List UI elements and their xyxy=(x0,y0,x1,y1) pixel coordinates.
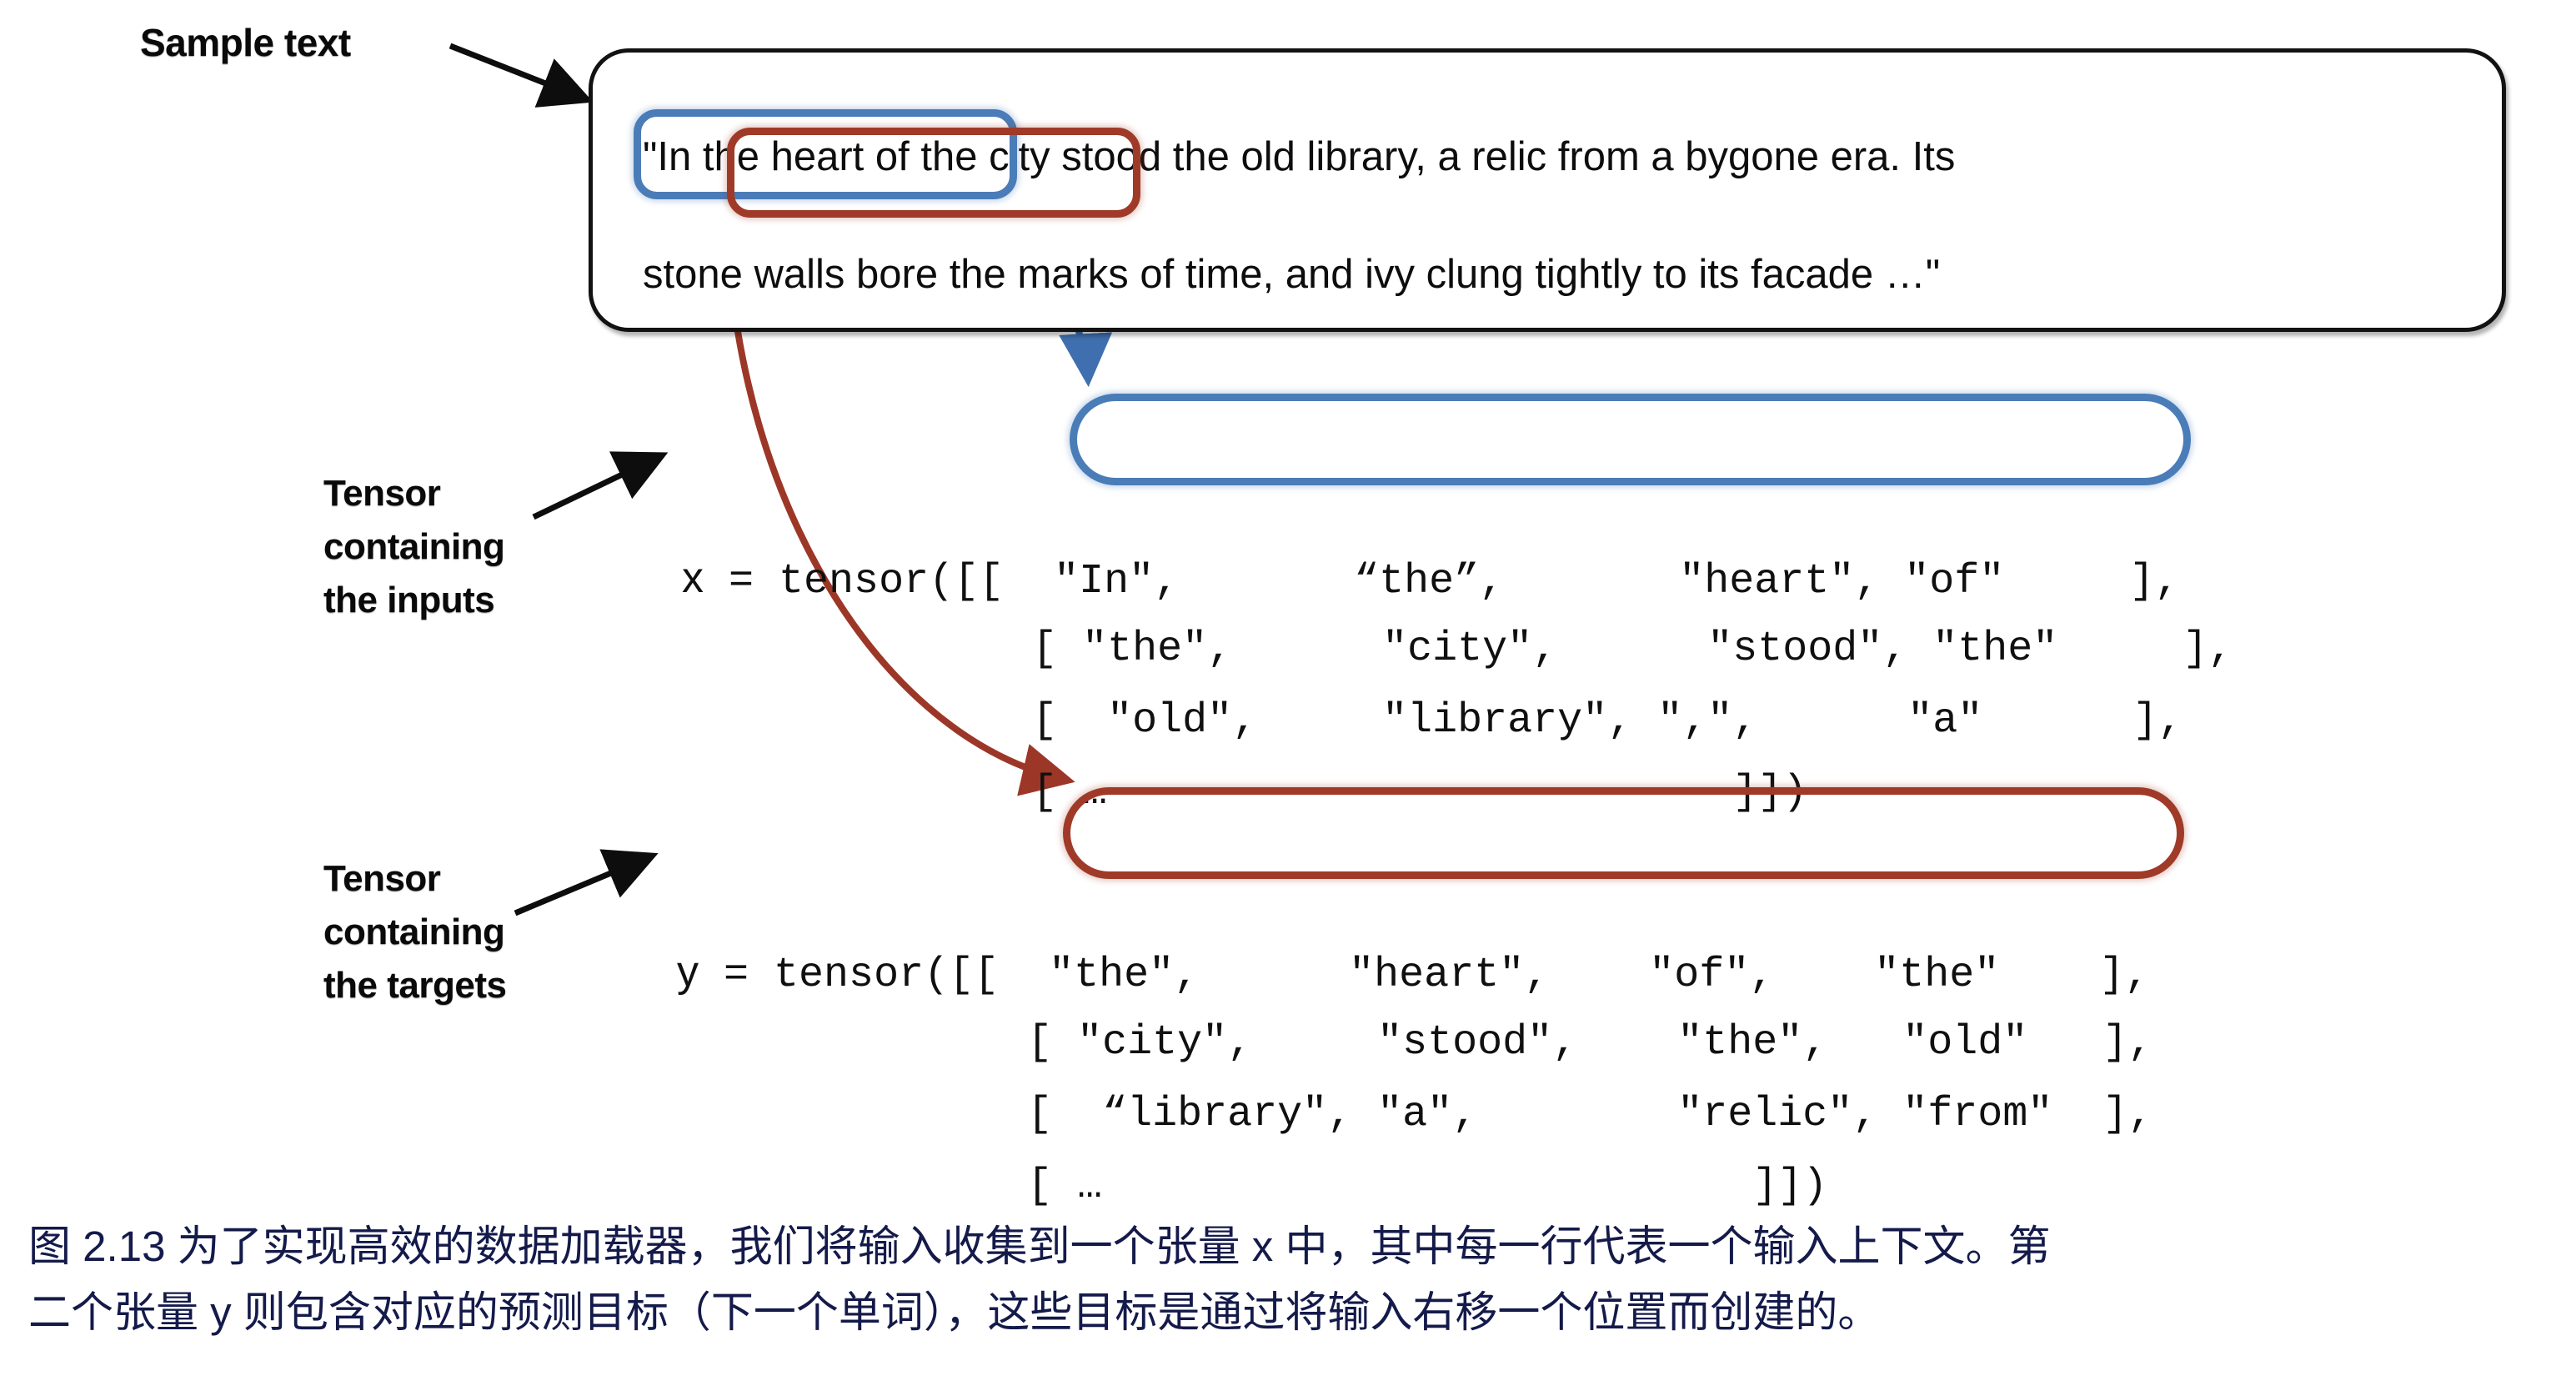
x-row-2-suffix: ], xyxy=(2132,697,2183,745)
tensor-targets-label: Tensorcontainingthe targets xyxy=(323,852,506,1012)
arrow-sample-text xyxy=(450,46,584,98)
y-row-2-suffix: ], xyxy=(2102,1091,2153,1138)
arrow-tensor-inputs xyxy=(534,457,659,517)
y-var-name: y xyxy=(677,947,699,996)
x-row-1-suffix: ], xyxy=(2183,625,2233,673)
figure-caption-line-2: 二个张量 y 则包含对应的预测目标（下一个单词），这些目标是通过将输入右移一个位… xyxy=(28,1279,2538,1345)
y-row-1-suffix: ], xyxy=(2102,1019,2153,1067)
y-row-1-cells: "city", "stood", "the", "old" xyxy=(1077,1019,2027,1067)
arrow-tensor-targets xyxy=(515,857,649,913)
y-tensor-row: [ … ]]) xyxy=(677,1151,2153,1223)
y-row-1-prefix: [ xyxy=(1027,1019,1077,1067)
y-equals: = xyxy=(724,952,749,999)
sample-text-line-2: stone walls bore the marks of time, and … xyxy=(643,251,1940,298)
x-row-2-prefix: [ xyxy=(1032,697,1082,745)
y-row-3-prefix: [ xyxy=(1027,1163,1077,1210)
y-row-3-cells: … xyxy=(1077,1163,1102,1210)
sample-text-label: Sample text xyxy=(140,15,351,71)
figure-caption: 图 2.13 为了实现高效的数据加载器，我们将输入收集到一个张量 x 中，其中每… xyxy=(28,1213,2538,1345)
y-tensor-row: [ “library", "a", "relic", "from" ], xyxy=(677,1079,2153,1151)
x-row-0-cells: "In", “the”, "heart", "of" xyxy=(1054,558,2004,605)
x-open: tensor([[ xyxy=(779,558,1004,605)
x-row-2-cells: "old", "library", ",", "a" xyxy=(1082,697,1982,745)
x-row-1-prefix: [ xyxy=(1032,625,1082,673)
y-row-2-prefix: [ xyxy=(1027,1091,1077,1138)
x-equals: = xyxy=(729,558,754,605)
y-row-3-suffix: ]]) xyxy=(1752,1163,1827,1210)
sample-text-box: "In the heart of the city stood the old … xyxy=(589,48,2506,332)
x-tensor-row: [ "old", "library", ",", "a" ], xyxy=(682,685,2233,757)
y-tensor-row: y = tensor([[ "the", "heart", "of", "the… xyxy=(677,936,2153,1007)
x-var-name: x xyxy=(682,554,704,602)
x-row-0-suffix: ], xyxy=(2129,558,2179,605)
sample-text-line-1: "In the heart of the city stood the old … xyxy=(643,133,1955,180)
y-tensor-row: [ "city", "stood", "the", "old" ], xyxy=(677,1007,2153,1079)
y-row-2-cells: “library", "a", "relic", "from" xyxy=(1077,1091,2052,1138)
x-tensor-row: x = tensor([[ "In", “the”, "heart", "of"… xyxy=(682,542,2233,614)
y-row-0-suffix: ], xyxy=(2099,952,2149,999)
x-row-1-cells: "the", "city", "stood", "the" xyxy=(1082,625,2057,673)
figure-canvas: Sample text "In the heart of the city st… xyxy=(0,0,2576,1391)
figure-caption-line-1: 图 2.13 为了实现高效的数据加载器，我们将输入收集到一个张量 x 中，其中每… xyxy=(28,1223,2050,1270)
x-tensor-row: [ "the", "city", "stood", "the" ], xyxy=(682,614,2233,685)
tensor-inputs-label: Tensorcontainingthe inputs xyxy=(323,467,504,626)
y-row-0-cells: "the", "heart", "of", "the" xyxy=(1049,952,1999,999)
y-open: tensor([[ xyxy=(774,952,999,999)
